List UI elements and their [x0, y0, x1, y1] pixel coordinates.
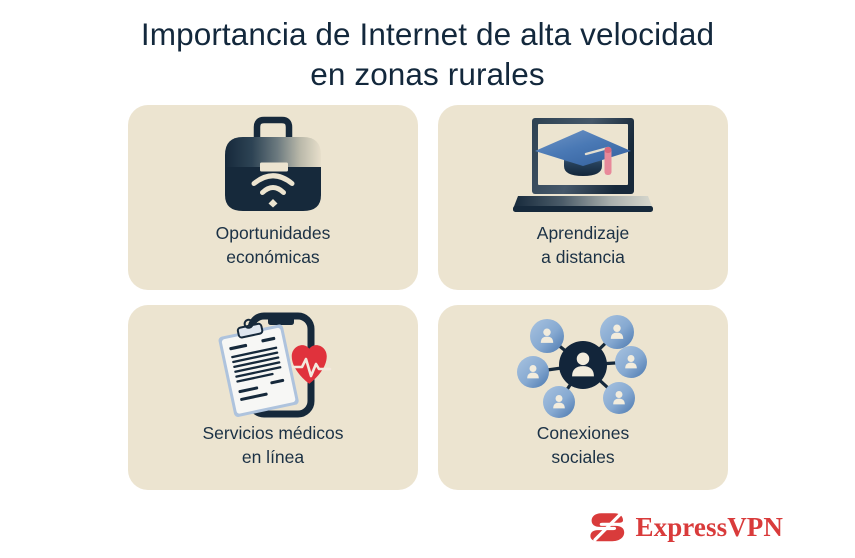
card-label-line-2: a distancia [537, 245, 629, 269]
card-label-line-2: económicas [216, 245, 331, 269]
expressvpn-e-logo-icon [590, 512, 626, 542]
briefcase-wifi-icon [214, 109, 332, 221]
card-label-line-2: en línea [202, 445, 343, 469]
card-label-line-1: Conexiones [537, 421, 629, 445]
card-distance-learning[interactable]: Aprendizaje a distancia [438, 105, 728, 290]
card-social-connections[interactable]: Conexiones sociales [438, 305, 728, 490]
infographic-root: Importancia de Internet de alta velocida… [0, 0, 855, 558]
card-online-medical-services[interactable]: Servicios médicos en línea [128, 305, 418, 490]
card-label-line-1: Oportunidades [216, 221, 331, 245]
card-label-economic-opportunities: Oportunidades económicas [216, 221, 331, 269]
card-economic-opportunities[interactable]: Oportunidades económicas [128, 105, 418, 290]
card-label-line-1: Servicios médicos [202, 421, 343, 445]
laptop-graduation-cap-icon [508, 109, 658, 221]
card-label-social-connections: Conexiones sociales [537, 421, 629, 469]
page-title-line-2: en zonas rurales [0, 54, 855, 94]
card-grid: Oportunidades económicas [128, 105, 728, 490]
expressvpn-wordmark: ExpressVPN [635, 514, 783, 541]
card-label-online-medical-services: Servicios médicos en línea [202, 421, 343, 469]
card-label-distance-learning: Aprendizaje a distancia [537, 221, 629, 269]
social-network-nodes-icon [515, 309, 651, 421]
card-label-line-1: Aprendizaje [537, 221, 629, 245]
page-title: Importancia de Internet de alta velocida… [0, 14, 855, 94]
expressvpn-logo[interactable]: ExpressVPN [590, 512, 783, 542]
card-label-line-2: sociales [537, 445, 629, 469]
phone-clipboard-heart-icon [211, 309, 335, 421]
page-title-line-1: Importancia de Internet de alta velocida… [0, 14, 855, 54]
